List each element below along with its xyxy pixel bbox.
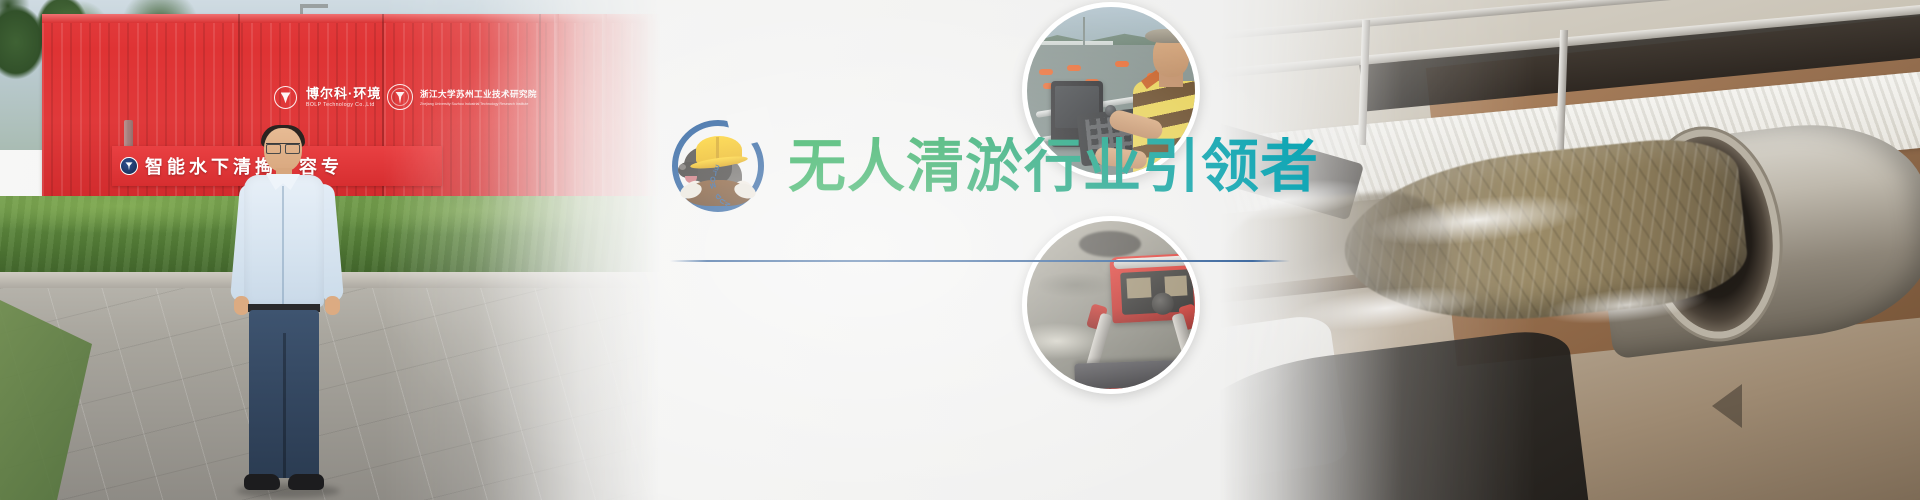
figure-left-shoe: [244, 474, 280, 490]
bolp-logo-icon: [274, 86, 297, 109]
logo-arc-char: E: [712, 162, 721, 172]
headline-block: MUD MOLE 无人清淤行业引领者: [650, 118, 1650, 378]
figure-leg-split: [283, 333, 286, 478]
figure-shirt: [244, 175, 324, 307]
container-door-bar: [602, 14, 607, 210]
container-top-edge: [42, 14, 660, 23]
eyeglasses-icon: [266, 143, 300, 151]
brand-text-group: 博尔科·环境 BOLP Technology Co.,Ltd: [306, 87, 381, 108]
partner-name-en: Zhejiang University Suzhou Industrial Te…: [420, 102, 537, 106]
logo-and-headline-row: MUD MOLE 无人清淤行业引领者: [650, 118, 1650, 214]
container-brand-mark: 博尔科·环境 BOLP Technology Co.,Ltd: [274, 86, 381, 109]
container-and-engineer-photo: 博尔科·环境 BOLP Technology Co.,Ltd 浙江大学苏州工业技…: [0, 0, 660, 500]
banner-center-content: MUD MOLE 无人清淤行业引领者: [660, 0, 1060, 500]
figure-shirt-placket: [282, 186, 284, 304]
brand-name-en: BOLP Technology Co.,Ltd: [306, 103, 381, 108]
logo-arc-text-wrap: MUD MOLE: [713, 154, 767, 208]
mole-nose: [679, 164, 686, 170]
slogan-badge-icon: [120, 157, 138, 175]
arrow-shape-icon: [1712, 384, 1742, 428]
transmission-tower: [1083, 17, 1085, 45]
page-title: 无人清淤行业引领者: [788, 137, 1319, 195]
red-shipping-container: 博尔科·环境 BOLP Technology Co.,Ltd 浙江大学苏州工业技…: [42, 14, 660, 210]
orange-float: [1067, 65, 1081, 71]
mud-mole-logo: MUD MOLE: [670, 118, 766, 214]
partner-text-group: 浙江大学苏州工业技术研究院 Zhejiang University Suzhou…: [420, 88, 537, 106]
operator-hat: [1145, 29, 1199, 43]
orange-float: [1115, 61, 1129, 67]
engineer-figure: [232, 128, 342, 500]
partner-brand-mark: 浙江大学苏州工业技术研究院 Zhejiang University Suzhou…: [387, 84, 537, 110]
title-divider: [670, 260, 1290, 262]
partner-name-cn: 浙江大学苏州工业技术研究院: [420, 88, 537, 100]
university-seal-icon: [387, 84, 413, 110]
utility-pole-crossarm: [300, 4, 328, 8]
brand-name-cn: 博尔科·环境: [306, 87, 381, 100]
container-seam: [539, 14, 541, 210]
figure-left-hand: [234, 296, 249, 315]
container-door-bar: [554, 14, 559, 210]
hero-banner: 博尔科·环境 BOLP Technology Co.,Ltd 浙江大学苏州工业技…: [0, 0, 1920, 500]
figure-right-hand: [325, 296, 340, 315]
figure-right-shoe: [288, 474, 324, 490]
